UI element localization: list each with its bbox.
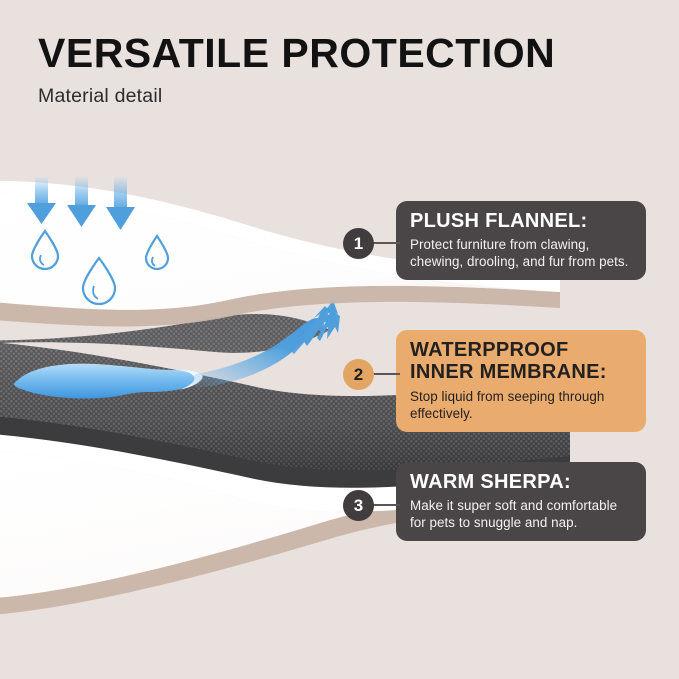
page-title: VERSATILE PROTECTION (38, 33, 638, 74)
page-subtitle: Material detail (38, 85, 638, 108)
step-badge-1: 1 (343, 228, 374, 259)
connector-line-3 (372, 504, 400, 506)
callout-title-2: WATERPPROOF INNER MEMBRANE: (410, 339, 633, 384)
infographic-canvas: VERSATILE PROTECTION Material detail 1 2… (0, 0, 679, 679)
callout-title-1: PLUSH FLANNEL: (410, 210, 633, 232)
step-badge-3: 3 (343, 490, 374, 521)
callout-title-3: WARM SHERPA: (410, 471, 633, 493)
callout-body-2: Stop liquid from seeping through effecti… (410, 388, 633, 422)
header: VERSATILE PROTECTION Material detail (38, 33, 638, 108)
callout-box-waterproof-membrane: WATERPPROOF INNER MEMBRANE: Stop liquid … (396, 330, 646, 432)
connector-line-2 (372, 373, 400, 375)
callout-body-1: Protect furniture from clawing, chewing,… (410, 236, 633, 270)
callout-box-warm-sherpa: WARM SHERPA: Make it super soft and comf… (396, 462, 646, 541)
step-badge-2: 2 (343, 359, 374, 390)
connector-line-1 (372, 242, 400, 244)
callout-body-3: Make it super soft and comfortable for p… (410, 497, 633, 531)
callout-box-plush-flannel: PLUSH FLANNEL: Protect furniture from cl… (396, 201, 646, 280)
